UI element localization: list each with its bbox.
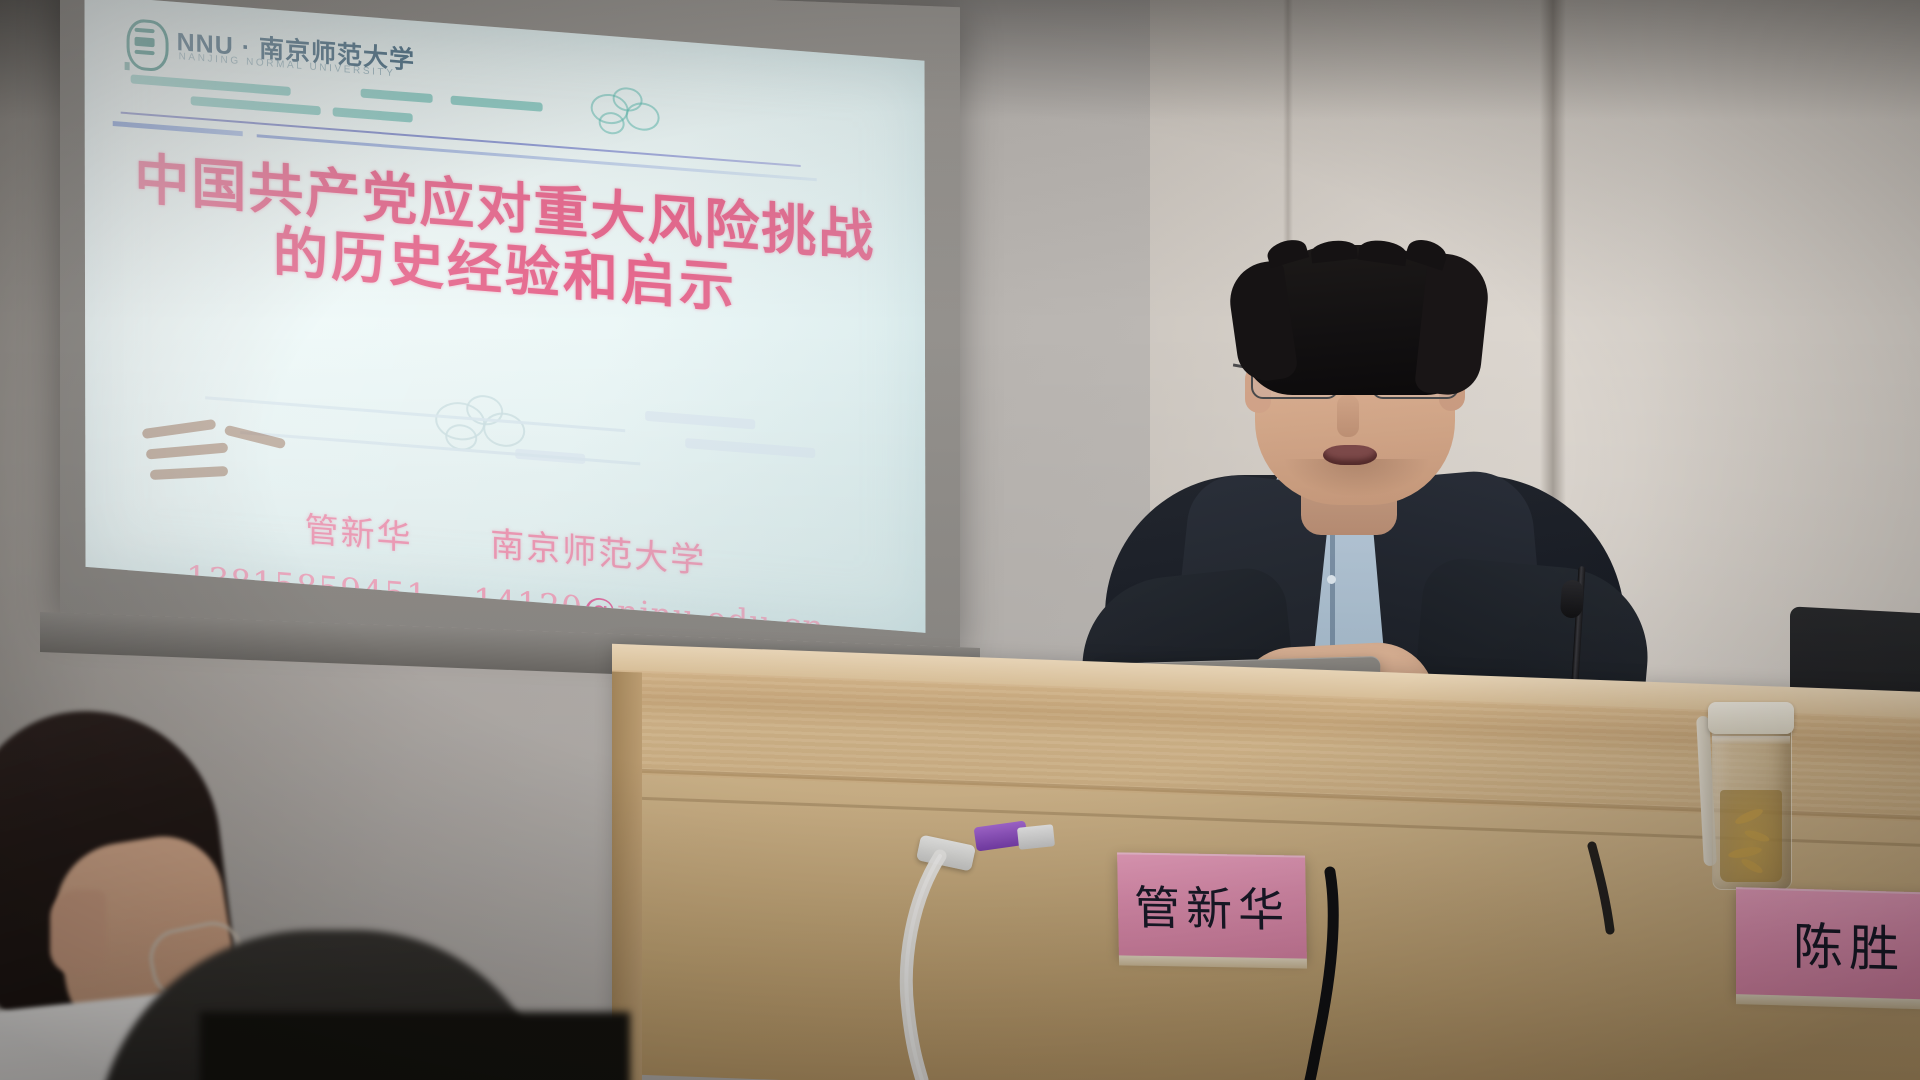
scene-root: NNU · 南京师范大学 NANJING NORMAL UNIVERSITY 中… — [0, 0, 1920, 1080]
scene-vignette — [0, 0, 1920, 1080]
